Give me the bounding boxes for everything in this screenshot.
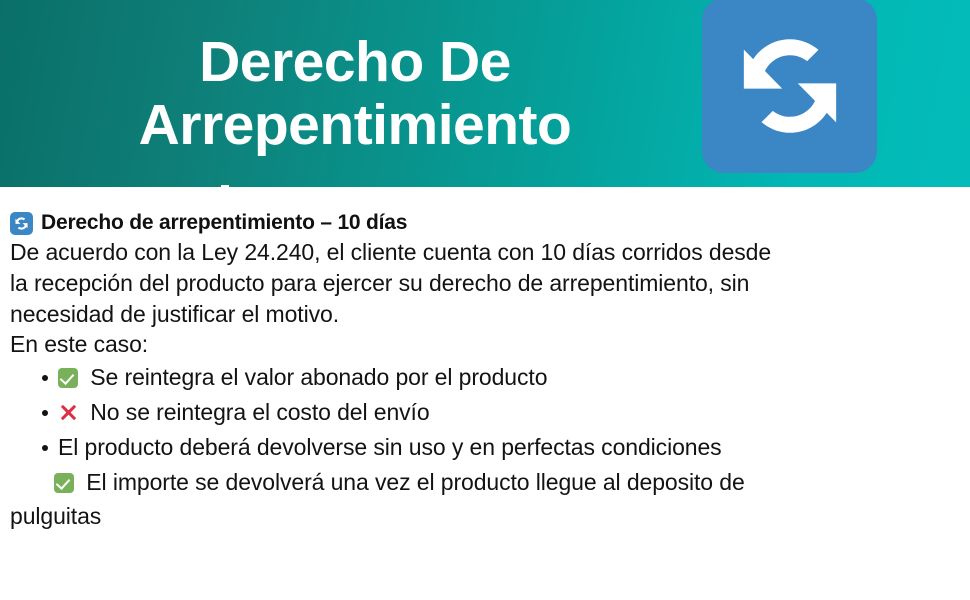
- list-item: Se reintegra el valor abonado por el pro…: [10, 360, 960, 395]
- list-item: No se reintegra el costo del envío: [10, 395, 960, 430]
- banner-title-line-1: Derecho De: [189, 33, 511, 91]
- list-intro-text: En este caso:: [10, 329, 960, 360]
- bullet-dot-icon: [42, 445, 48, 451]
- list-item: El producto deberá devolverse sin uso y …: [10, 430, 960, 465]
- policy-content: Derecho de arrepentimiento – 10 días De …: [0, 211, 970, 532]
- banner-title-line-2: Arrepentimiento: [129, 96, 572, 154]
- list-item-label: No se reintegra el costo del envío: [90, 399, 429, 425]
- list-item-label: Se reintegra el valor abonado por el pro…: [90, 364, 547, 390]
- red-cross-emoji: [58, 402, 78, 422]
- policy-paragraph-line-3: necesidad de justificar el motivo.: [10, 299, 960, 330]
- section-heading-text: Derecho de arrepentimiento – 10 días: [41, 211, 407, 235]
- list-item-label: El producto deberá devolverse sin uso y …: [58, 434, 722, 460]
- policy-paragraph-line-1: De acuerdo con la Ley 24.240, el cliente…: [10, 237, 960, 268]
- bullet-dot-icon: [42, 375, 48, 381]
- list-item-wrapped-tail: pulguitas: [10, 500, 960, 532]
- section-heading: Derecho de arrepentimiento – 10 días: [10, 211, 960, 235]
- banner-title-block: Derecho De Arrepentimiento: [0, 0, 700, 187]
- policy-bullet-list: Se reintegra el valor abonado por el pro…: [10, 360, 960, 500]
- green-check-emoji: [54, 473, 74, 493]
- header-banner: Derecho De Arrepentimiento: [0, 0, 970, 192]
- bullet-dot-icon: [42, 410, 48, 416]
- list-item: El importe se devolverá una vez el produ…: [10, 465, 960, 500]
- policy-paragraph-line-2: la recepción del producto para ejercer s…: [10, 268, 960, 299]
- refresh-cycle-icon: [10, 212, 33, 235]
- green-check-emoji: [58, 368, 78, 388]
- refresh-cycle-icon: [702, 0, 877, 173]
- list-item-label: El importe se devolverá una vez el produ…: [86, 469, 744, 495]
